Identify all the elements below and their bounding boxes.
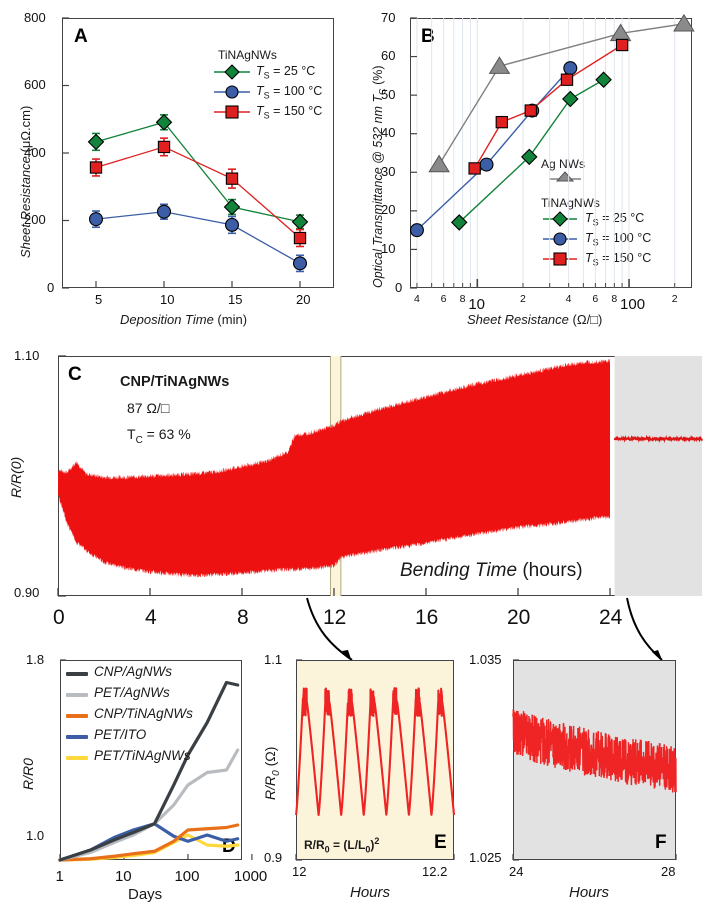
panel-d-legend-swatch-0 — [66, 672, 88, 676]
panel-c-xtick-8: 8 — [237, 606, 249, 630]
panel-c-xtick-0: 0 — [53, 606, 65, 630]
panel-d-xtick-100: 100 — [174, 868, 199, 885]
panel-b-xtick-10: 10 — [468, 296, 485, 313]
panel-a-data-layer — [0, 0, 350, 335]
panel-d-legend-label-1: PET/AgNWs — [94, 685, 170, 700]
panel-d-legend-label-4: PET/TiNAgNWs — [94, 748, 191, 763]
panel-d-xtick-1: 1 — [56, 868, 64, 885]
panel-d-legend-swatch-3 — [66, 735, 88, 739]
panel-c-xtick-24: 24 — [599, 606, 622, 630]
panel-e-data-layer — [250, 650, 465, 910]
panel-f-data-layer — [465, 650, 714, 910]
panel-c-xtick-4: 4 — [145, 606, 157, 630]
panel-c: C 1.10 0.90 R/R(0) CNP/TiNAgNWs 87 Ω/□ T… — [0, 338, 714, 638]
panel-b-xtick-minor-8: 8 — [460, 293, 466, 305]
panel-d-legend-swatch-1 — [66, 693, 88, 697]
panel-b-xtick-minor-200: 2 — [672, 293, 678, 305]
panel-c-xtick-20: 20 — [507, 606, 530, 630]
panel-d: D 1.8 1.0 R/R0 Days 1101001000 CNP/AgNWs… — [0, 650, 250, 910]
panel-b-xtick-minor-40: 4 — [566, 293, 572, 305]
panel-c-data-layer — [0, 338, 714, 638]
panel-e: E 1.1 0.9 R/R0 (Ω) 12 12.2 Hours R/R0 = … — [250, 650, 465, 910]
panel-a: A 800 600 400 200 0 5 10 15 20 Depositio… — [0, 0, 350, 335]
panel-b: B 70 60 50 40 30 20 10 0 Optical Transmi… — [355, 0, 714, 335]
panel-b-xtick-minor-4: 4 — [414, 293, 420, 305]
panel-d-legend-label-3: PET/ITO — [94, 727, 146, 742]
panel-d-legend-label-0: CNP/AgNWs — [94, 664, 172, 679]
panel-f: F 1.035 1.025 24 28 Hours — [465, 650, 714, 910]
panel-b-xtick-minor-20: 2 — [520, 293, 526, 305]
panel-d-legend-label-2: CNP/TiNAgNWs — [94, 706, 193, 721]
panel-b-xtick-minor-60: 6 — [592, 293, 598, 305]
panel-d-legend-swatch-2 — [66, 714, 88, 718]
panel-d-xtick-10: 10 — [115, 868, 132, 885]
panel-c-xtick-12: 12 — [323, 606, 346, 630]
panel-c-xtick-16: 16 — [415, 606, 438, 630]
panel-d-legend-swatch-4 — [66, 756, 88, 760]
panel-b-data-layer — [355, 0, 714, 335]
panel-b-xtick-minor-6: 6 — [441, 293, 447, 305]
panel-b-xtick-minor-80: 8 — [611, 293, 617, 305]
panel-b-xtick-100: 100 — [620, 296, 645, 313]
